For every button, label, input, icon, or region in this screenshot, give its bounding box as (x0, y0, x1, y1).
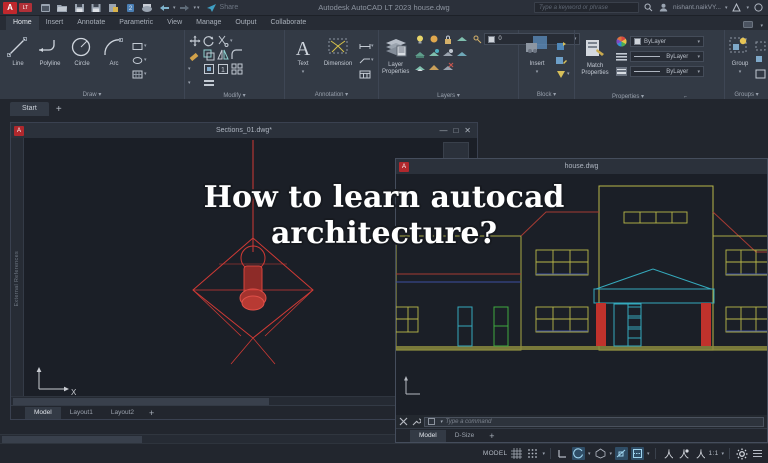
panel-modify-body: ▾ ▾ 1 ▾ (185, 30, 284, 91)
autocad-logo-icon[interactable]: A (3, 2, 17, 14)
window-sections-controls: — □ ✕ (439, 126, 474, 135)
mirror-icon[interactable] (216, 48, 229, 61)
ortho-mode-icon[interactable] (556, 447, 569, 460)
window-house-layout-bar: Model D-Size + (396, 428, 767, 442)
color-value: ByLayer (644, 39, 666, 45)
ribbon-controls: ▾ (743, 21, 768, 30)
panel-modify-label: Modify (223, 93, 241, 99)
autoscale-icon[interactable]: 人 (677, 447, 690, 460)
user-dropdown-icon[interactable]: ▾ (725, 5, 728, 11)
layer-properties-label: LayerProperties (382, 62, 409, 76)
panel-draw-body: Line Polyline Circle Arc (0, 30, 184, 90)
snap-dropdown-icon[interactable]: ▾ (542, 451, 545, 457)
command-history-icon[interactable] (428, 418, 437, 425)
redo-dropdown-icon[interactable]: ▾ (194, 5, 197, 11)
status-model-label[interactable]: MODEL (483, 450, 508, 457)
rectangle-icon[interactable] (131, 40, 144, 53)
window-house-titlebar[interactable]: A house.dwg (396, 159, 767, 174)
panel-properties-body: MatchProperties ByLayer (575, 30, 724, 92)
move-icon[interactable] (188, 34, 201, 47)
line-label: Line (12, 61, 23, 68)
svg-text:人: 人 (696, 449, 705, 460)
tab-output[interactable]: Output (228, 16, 263, 30)
customization-icon[interactable] (751, 447, 764, 460)
text-dropdown-icon[interactable]: ▾ (302, 69, 305, 75)
table-icon[interactable] (358, 68, 371, 81)
status-separator-2 (655, 448, 656, 459)
house-elevation-drawing (396, 174, 767, 384)
block-dropdown-icon[interactable]: ▾ (567, 71, 570, 77)
layer-unisolate-icon[interactable] (441, 47, 454, 60)
group-label: Group (732, 61, 749, 68)
panel-draw: Line Polyline Circle Arc (0, 30, 185, 99)
layer-on-icon[interactable] (413, 33, 426, 46)
tab-parametric[interactable]: Parametric (112, 16, 160, 30)
lineweight-icon (616, 66, 627, 77)
lineweight-combo[interactable]: ByLayer ▾ (630, 66, 704, 77)
insert-dropdown-icon[interactable]: ▾ (536, 69, 539, 75)
group-icon (728, 34, 752, 60)
panel-layers-title[interactable]: Layers ▾ (379, 91, 518, 102)
layout-tab-layout1[interactable]: Layout1 (61, 407, 102, 419)
ungroup-icon[interactable] (754, 40, 767, 53)
properties-dialog-launcher-icon[interactable]: ⌐ (684, 92, 687, 103)
help-icon[interactable] (753, 2, 764, 13)
status-bar: MODEL ▾ ▾ ▾ ▾ 人 人 人 1:1 ▾ (0, 443, 768, 463)
leader-icon[interactable] (358, 54, 371, 67)
export-icon[interactable] (105, 1, 121, 15)
match-properties-label: MatchProperties (581, 63, 608, 77)
ucs-icon: X (33, 363, 77, 397)
circle-button[interactable]: Circle (67, 32, 97, 88)
status-separator-1 (550, 448, 551, 459)
house-layout-tab-model[interactable]: Model (410, 430, 446, 442)
explode-icon[interactable] (202, 76, 215, 89)
object-snap-tracking-icon[interactable] (631, 447, 644, 460)
rectangle-dropdown-icon[interactable]: ▾ (144, 43, 147, 49)
linetype-row: ByLayer ▾ (616, 51, 704, 62)
panel-groups-body: Group ▾ (725, 30, 768, 90)
workspace-hscrollbar[interactable] (0, 434, 395, 443)
insert-block-icon (524, 34, 550, 60)
add-layout-button[interactable]: + (143, 408, 160, 418)
layer-delete-icon[interactable] (441, 61, 454, 74)
tab-view[interactable]: View (160, 16, 189, 30)
svg-text:A: A (296, 38, 311, 58)
ellipse-icon[interactable] (131, 54, 144, 67)
arc-label: Arc (110, 61, 119, 68)
external-references-label: External References (14, 251, 20, 307)
command-line[interactable]: ▾ Type a command (396, 415, 767, 428)
tab-insert[interactable]: Insert (39, 16, 71, 30)
polar-tracking-icon[interactable] (572, 447, 585, 460)
block-edit-icon[interactable] (554, 54, 567, 67)
arc-button[interactable]: Arc (99, 32, 129, 88)
polar-dropdown-icon[interactable]: ▾ (588, 451, 591, 457)
array-icon[interactable] (230, 62, 243, 75)
match-properties-icon (583, 36, 607, 62)
sheetset-icon[interactable]: 2 (122, 1, 138, 15)
color-row: ByLayer ▾ (616, 36, 704, 47)
insert-button[interactable]: Insert ▾ (522, 32, 552, 88)
group-selection-icon[interactable] (754, 68, 767, 81)
command-customize-icon[interactable] (411, 417, 421, 427)
layers-state-tools (413, 33, 468, 74)
panel-block: Insert ▾ ▾ Block ▾ (519, 30, 575, 99)
window-sections-close-button[interactable]: ✕ (464, 126, 471, 135)
circle-label: Circle (74, 61, 89, 68)
draw-small-tools: ▾ ▾ ▾ (131, 40, 147, 81)
panel-annotation-title[interactable]: Annotation ▾ (285, 90, 378, 101)
panel-annotation-label: Annotation (315, 92, 344, 98)
tab-manage[interactable]: Manage (189, 16, 228, 30)
layer-color-swatch (488, 36, 495, 43)
share-label: Share (220, 4, 239, 11)
lineweight-row: ByLayer ▾ (616, 66, 704, 77)
line-icon (6, 34, 30, 60)
layer-key-icon (473, 35, 482, 44)
line-button[interactable]: Line (3, 32, 33, 88)
text-icon: A (292, 34, 314, 60)
group-button[interactable]: Group ▾ (728, 32, 752, 88)
color-wheel-icon (616, 36, 627, 47)
panel-layers: LayerProperties (379, 30, 519, 99)
layout-tab-layout2[interactable]: Layout2 (102, 407, 143, 419)
svg-text:人: 人 (664, 449, 673, 460)
scale-dropdown-icon[interactable]: ▾ (721, 451, 724, 457)
linetype-combo[interactable]: ByLayer ▾ (630, 51, 704, 62)
panel-modify: ▾ ▾ 1 ▾ Modify ▾ (185, 30, 285, 99)
window-house-title: house.dwg (396, 163, 767, 170)
properties-combos: ByLayer ▾ ByLayer ▾ ByLa (616, 34, 704, 79)
annotation-scale-value[interactable]: 1:1 (709, 450, 719, 457)
insert-label: Insert (529, 61, 544, 68)
groups-small-tools (754, 40, 767, 81)
panel-annotation-body: A Text ▾ Dimension ▾ ▾ (285, 30, 378, 90)
layer-merge-icon[interactable] (427, 61, 440, 74)
text-label: Text (297, 61, 308, 68)
panel-groups-title[interactable]: Groups ▾ (725, 90, 768, 101)
layer-freeze-icon[interactable] (427, 33, 440, 46)
panel-annotation: A Text ▾ Dimension ▾ ▾ (285, 30, 379, 99)
window-sections-titlebar[interactable]: A Sections_01.dwg* — □ ✕ (11, 123, 477, 138)
linetype-icon (616, 51, 627, 62)
window-sections-minimize-button[interactable]: — (439, 126, 447, 135)
layer-isolate-icon[interactable] (455, 33, 468, 46)
scale-icon[interactable]: 1 (216, 62, 229, 75)
object-snap-icon[interactable] (615, 447, 628, 460)
block-attribute-icon[interactable] (554, 68, 567, 81)
panel-properties-label: Properties (612, 94, 639, 100)
layer-freeze2-icon[interactable] (455, 47, 468, 60)
panel-groups-label: Groups (734, 92, 754, 98)
rotate-icon[interactable] (202, 34, 215, 47)
linetype-combo-caret-icon[interactable]: ▾ (697, 54, 700, 60)
panel-groups: Group ▾ Groups ▾ (725, 30, 768, 99)
redo-icon[interactable] (177, 1, 193, 15)
command-input[interactable]: ▾ Type a command (424, 417, 764, 427)
workspace-gear-icon[interactable] (735, 447, 748, 460)
share-button[interactable]: Share (206, 3, 239, 13)
title-bar-right: Type a keyword or phrase nishant.naikVY.… (534, 2, 768, 13)
copy-icon[interactable] (202, 48, 215, 61)
erase-icon[interactable] (188, 48, 201, 61)
panel-block-body: Insert ▾ ▾ (519, 30, 574, 90)
stretch-icon[interactable] (202, 62, 215, 75)
panel-layers-label: Layers (437, 93, 455, 99)
polyline-button[interactable]: Polyline (35, 32, 65, 88)
dimension-button[interactable]: Dimension (320, 32, 356, 88)
linetype-preview-icon (634, 54, 660, 59)
quick-access-toolbar: 2 ▾ ▾ ▾ (37, 1, 200, 15)
ribbon-tab-strip: Home Insert Annotate Parametric View Man… (0, 16, 768, 30)
window-sections-maximize-button[interactable]: □ (453, 126, 458, 135)
osnap-dropdown-icon[interactable]: ▾ (647, 451, 650, 457)
panel-block-label: Block (537, 92, 552, 98)
block-small-tools: ▾ (554, 40, 570, 81)
annotation-scale-icon[interactable]: 人 (693, 447, 706, 460)
hatch-dropdown-icon[interactable]: ▾ (144, 71, 147, 77)
text-button[interactable]: A Text ▾ (288, 32, 318, 88)
polyline-label: Polyline (39, 61, 60, 68)
layers-stack-icon (383, 35, 409, 61)
fillet-dropdown-icon[interactable]: ▾ (188, 66, 191, 72)
trim-icon[interactable] (216, 34, 229, 47)
panel-draw-title[interactable]: Draw ▾ (0, 90, 184, 101)
group-dropdown-icon[interactable]: ▾ (739, 69, 742, 75)
qat-customize-icon[interactable]: ▾ (197, 5, 200, 11)
panel-properties: MatchProperties ByLayer (575, 30, 725, 99)
command-placeholder: Type a command (446, 419, 492, 425)
modify-tools: ▾ ▾ 1 ▾ (188, 34, 243, 89)
sections-drawing (131, 140, 351, 370)
search-input[interactable]: Type a keyword or phrase (534, 2, 639, 13)
plot-icon[interactable] (139, 1, 155, 15)
linetype-value: ByLayer (666, 54, 688, 60)
file-tab-start[interactable]: Start (10, 102, 49, 116)
share-icon (206, 3, 217, 13)
block-create-icon[interactable] (554, 40, 567, 53)
help-dropdown-icon[interactable]: ▾ (746, 5, 749, 11)
tab-collaborate[interactable]: Collaborate (263, 16, 313, 30)
external-references-palette[interactable]: External References (11, 138, 24, 419)
undo-dropdown-icon[interactable]: ▾ (173, 5, 176, 11)
hatch-icon[interactable] (131, 68, 144, 81)
house-layout-tab-dsize[interactable]: D-Size (446, 430, 484, 442)
annotation-small-tools: ▾ ▾ (358, 40, 374, 81)
new-file-tab-button[interactable]: + (51, 102, 67, 116)
workspace: A Sections_01.dwg* — □ ✕ External Refere… (0, 116, 768, 443)
command-close-icon[interactable] (399, 417, 408, 426)
panel-block-title[interactable]: Block ▾ (519, 90, 574, 101)
layer-off-icon[interactable] (427, 47, 440, 60)
leader-dropdown-icon[interactable]: ▾ (371, 57, 374, 63)
panel-layers-body: LayerProperties (379, 30, 518, 91)
lineweight-combo-caret-icon[interactable]: ▾ (697, 69, 700, 75)
window-sections-title: Sections_01.dwg* (11, 127, 477, 134)
save-icon[interactable] (71, 1, 87, 15)
circle-icon (70, 34, 94, 60)
layer-lock-icon[interactable] (441, 33, 454, 46)
svg-text:1: 1 (221, 67, 225, 74)
fillet-icon[interactable] (230, 48, 243, 61)
trim-dropdown-icon[interactable]: ▾ (230, 38, 233, 44)
layer-previous-icon[interactable] (413, 61, 426, 74)
arc-icon (102, 34, 126, 60)
saveas-icon[interactable] (88, 1, 104, 15)
annotation-visibility-icon[interactable]: 人 (661, 447, 674, 460)
dimension-style-icon[interactable] (358, 40, 371, 53)
title-bar: A LT 2 ▾ ▾ ▾ S (0, 0, 768, 16)
command-dropdown-icon[interactable]: ▾ (440, 419, 443, 425)
lineweight-value: ByLayer (666, 69, 688, 75)
match-properties-button[interactable]: MatchProperties (578, 34, 612, 90)
house-ucs-icon (400, 372, 426, 400)
color-combo[interactable]: ByLayer ▾ (630, 36, 704, 47)
open-icon[interactable] (54, 1, 70, 15)
user-account-label[interactable]: nishant.naikVY... (673, 4, 721, 11)
house-add-layout-button[interactable]: + (483, 431, 500, 441)
avatar-icon[interactable] (658, 2, 669, 13)
isometric-drafting-icon[interactable] (594, 447, 607, 460)
isometric-dropdown-icon[interactable]: ▾ (610, 451, 613, 457)
layout-tab-model[interactable]: Model (25, 407, 61, 419)
new-icon[interactable] (37, 1, 53, 15)
grid-display-icon[interactable] (510, 447, 523, 460)
dimstyle-dropdown-icon[interactable]: ▾ (371, 43, 374, 49)
layer-properties-button[interactable]: LayerProperties (382, 33, 409, 89)
polyline-icon (37, 34, 63, 60)
ribbon-minimize-icon[interactable] (743, 21, 757, 30)
tab-annotate[interactable]: Annotate (70, 16, 112, 30)
dimension-icon (326, 34, 350, 60)
search-icon[interactable] (643, 2, 654, 13)
snap-mode-icon[interactable] (526, 447, 539, 460)
undo-icon[interactable] (156, 1, 172, 15)
panel-draw-label: Draw (83, 92, 97, 98)
color-combo-caret-icon[interactable]: ▾ (697, 39, 700, 45)
lt-badge: LT (19, 3, 32, 12)
status-separator-3 (729, 448, 730, 459)
color-swatch (634, 38, 641, 45)
current-layer-value: 0 (498, 36, 501, 42)
window-house-canvas[interactable]: ▾ Type a command Model D-Size + (396, 174, 767, 442)
window-house[interactable]: A house.dwg (395, 158, 768, 443)
lineweight-preview-icon (634, 69, 660, 74)
layer-match-icon[interactable] (413, 47, 426, 60)
tab-home[interactable]: Home (6, 16, 39, 30)
dimension-label: Dimension (324, 61, 352, 68)
autodesk-triangle-icon[interactable] (731, 2, 742, 13)
ribbon-options-icon[interactable]: ▾ (760, 23, 763, 29)
ellipse-dropdown-icon[interactable]: ▾ (144, 57, 147, 63)
array-dropdown-icon[interactable]: ▾ (188, 80, 191, 86)
ribbon: Line Polyline Circle Arc (0, 30, 768, 100)
panel-properties-title[interactable]: Properties ▾ ⌐ (575, 92, 724, 103)
group-edit-icon[interactable] (754, 54, 767, 67)
panel-modify-title[interactable]: Modify ▾ (185, 91, 284, 102)
